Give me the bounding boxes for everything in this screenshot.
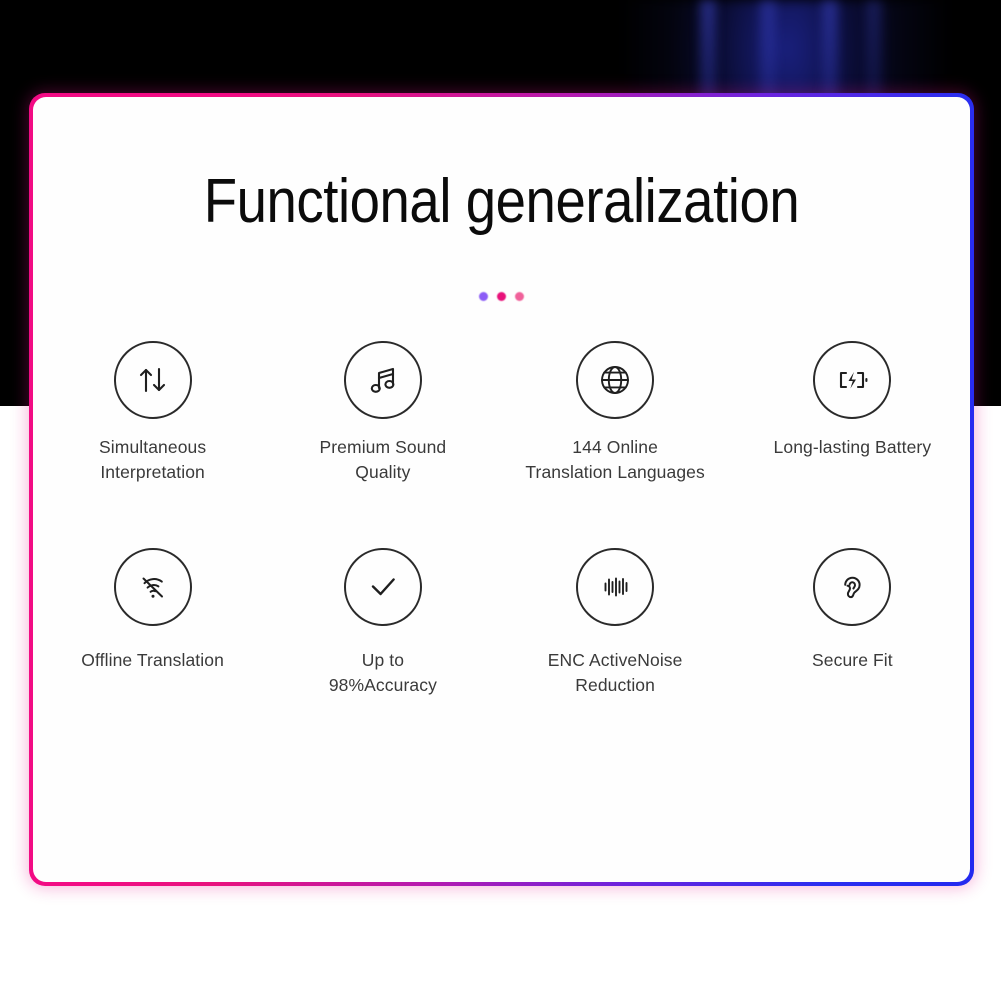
feature-label: Offline Translation: [81, 648, 224, 673]
battery-charging-icon: [813, 341, 891, 419]
feature-card: Functional generalization: [33, 97, 970, 882]
poster-stage: Functional generalization: [0, 0, 1001, 1001]
feature-item-premium-sound-quality[interactable]: Premium Sound Quality: [274, 341, 501, 486]
feature-label: ENC ActiveNoise Reduction: [548, 648, 683, 699]
feature-grid-row-1: Simultaneous Interpretation: [33, 341, 970, 486]
feature-item-offline-translation[interactable]: Offline Translation: [47, 548, 274, 699]
sound-wave-icon: [576, 548, 654, 626]
dot-pink: [515, 292, 524, 301]
wifi-off-icon: [114, 548, 192, 626]
feature-item-secure-fit[interactable]: Secure Fit: [729, 548, 956, 699]
music-note-icon: [344, 341, 422, 419]
feature-label: Simultaneous Interpretation: [99, 435, 206, 486]
exchange-arrows-icon: [114, 341, 192, 419]
globe-icon: [576, 341, 654, 419]
feature-item-long-lasting-battery[interactable]: Long-lasting Battery: [729, 341, 956, 486]
feature-item-enc-noise-reduction[interactable]: ENC ActiveNoise Reduction: [502, 548, 729, 699]
feature-item-translation-languages[interactable]: 144 Online Translation Languages: [502, 341, 729, 486]
feature-grid-row-2: Offline Translation Up to 98%Accuracy: [33, 548, 970, 699]
decorative-dots: [33, 292, 970, 301]
feature-label: 144 Online Translation Languages: [525, 435, 705, 486]
page-title: Functional generalization: [89, 166, 914, 237]
feature-item-simultaneous-interpretation[interactable]: Simultaneous Interpretation: [47, 341, 274, 486]
feature-label: Long-lasting Battery: [774, 435, 932, 460]
feature-label: Up to 98%Accuracy: [329, 648, 437, 699]
feature-label: Secure Fit: [812, 648, 893, 673]
dot-magenta: [497, 292, 506, 301]
feature-item-accuracy[interactable]: Up to 98%Accuracy: [274, 548, 501, 699]
dot-purple: [479, 292, 488, 301]
check-icon: [344, 548, 422, 626]
feature-label: Premium Sound Quality: [319, 435, 446, 486]
feature-card-border: Functional generalization: [29, 93, 974, 886]
ear-icon: [813, 548, 891, 626]
